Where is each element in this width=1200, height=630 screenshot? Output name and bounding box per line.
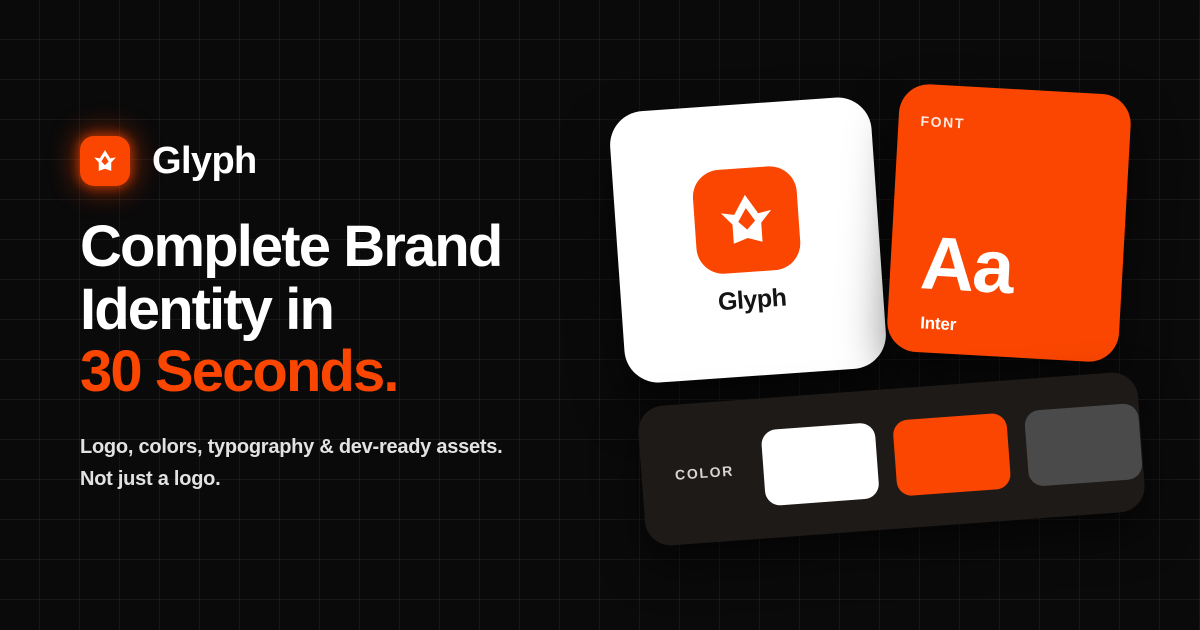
logo-preview-card: Glyph xyxy=(608,95,888,385)
logo-card-label: Glyph xyxy=(717,285,787,315)
font-sample-glyphs: Aa xyxy=(919,225,1015,305)
color-swatch-list xyxy=(761,403,1144,506)
brand-lockup: Glyph xyxy=(80,136,257,186)
glyph-mark-icon-large xyxy=(691,164,802,275)
headline-line-2: Identity in xyxy=(80,279,501,342)
font-preview-card: FONT Aa Inter xyxy=(886,83,1133,364)
subtitle-line-1: Logo, colors, typography & dev-ready ass… xyxy=(80,431,502,463)
headline-line-1: Complete Brand xyxy=(80,216,501,279)
glyph-mark-icon xyxy=(80,136,130,186)
color-palette-card: COLOR xyxy=(637,371,1147,547)
font-family-name: Inter xyxy=(920,314,957,333)
font-card-label: FONT xyxy=(920,114,965,130)
swatch-orange xyxy=(892,412,1011,496)
swatch-white xyxy=(761,422,880,506)
hero-banner: Glyph Complete Brand Identity in 30 Seco… xyxy=(0,0,1200,630)
brand-name: Glyph xyxy=(152,142,257,180)
swatch-gray xyxy=(1024,403,1143,487)
color-card-label: COLOR xyxy=(661,463,748,483)
headline-line-3-accent: 30 Seconds. xyxy=(80,341,501,404)
subtitle: Logo, colors, typography & dev-ready ass… xyxy=(80,431,502,496)
subtitle-line-2: Not just a logo. xyxy=(80,463,502,495)
page-title: Complete Brand Identity in 30 Seconds. xyxy=(80,216,501,404)
left-content-column: Glyph Complete Brand Identity in 30 Seco… xyxy=(80,0,640,630)
